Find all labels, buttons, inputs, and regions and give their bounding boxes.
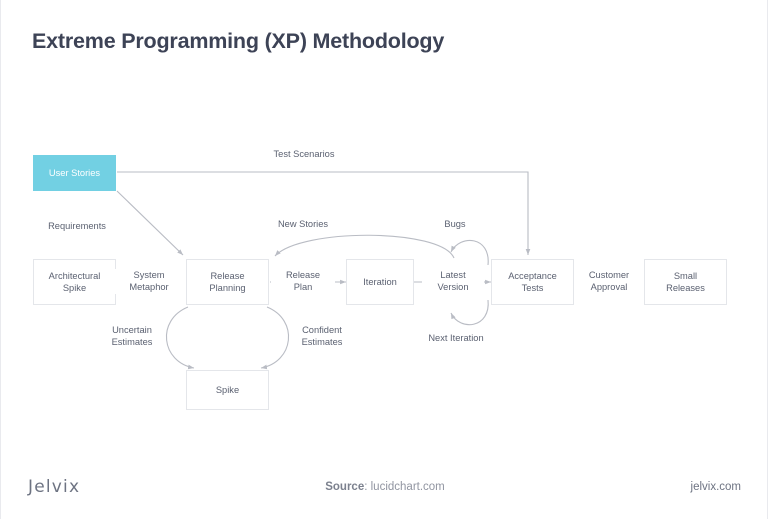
edge-label-next-iteration: Next Iteration [409,332,503,344]
source-attribution: Source: lucidchart.com [1,481,768,493]
edge-label-requirements: Requirements [29,220,125,232]
slide-footer: Jelvix Source: lucidchart.com jelvix.com [1,459,768,519]
edge-label-test-scenarios: Test Scenarios [253,148,355,160]
edge-label-bugs: Bugs [425,218,485,230]
edge-label-release-plan: Release Plan [271,269,335,294]
node-small-releases[interactable]: Small Releases [644,259,727,305]
node-iteration[interactable]: Iteration [346,259,414,305]
node-release-planning-label: Release Planning [205,270,249,295]
site-url: jelvix.com [691,481,741,493]
diagram-connectors [1,0,768,470]
edge-uncertain-estimates [166,307,194,368]
edge-label-system-metaphor: System Metaphor [113,269,185,294]
edge-next-iteration [451,300,488,325]
edge-label-uncertain-estimates: Uncertain Estimates [97,324,167,349]
edge-confident-estimates [261,307,289,368]
node-user-stories[interactable]: User Stories [33,155,116,191]
node-architectural-spike-label: Architectural Spike [45,270,105,295]
source-label: Source [325,481,364,493]
edge-test-scenarios [117,172,528,255]
node-acceptance-tests[interactable]: Acceptance Tests [491,259,574,305]
xp-methodology-diagram: User Stories Architectural Spike Release… [1,0,768,470]
node-architectural-spike[interactable]: Architectural Spike [33,259,116,305]
edge-label-new-stories: New Stories [256,218,350,230]
node-acceptance-tests-label: Acceptance Tests [504,270,561,295]
node-iteration-label: Iteration [359,276,401,288]
slide-canvas: Extreme Programming (XP) Methodology [0,0,768,519]
edge-bugs [451,240,488,265]
edge-label-latest-version: Latest Version [422,269,484,294]
node-spike-label: Spike [212,384,243,396]
edge-new-stories [275,235,454,258]
node-small-releases-label: Small Releases [662,270,709,295]
node-user-stories-label: User Stories [45,167,104,179]
source-value: : lucidchart.com [364,481,445,493]
edge-label-customer-approval: Customer Approval [574,269,644,294]
edge-label-confident-estimates: Confident Estimates [287,324,357,349]
edge-requirements [117,191,183,255]
node-spike[interactable]: Spike [186,370,269,410]
node-release-planning[interactable]: Release Planning [186,259,269,305]
